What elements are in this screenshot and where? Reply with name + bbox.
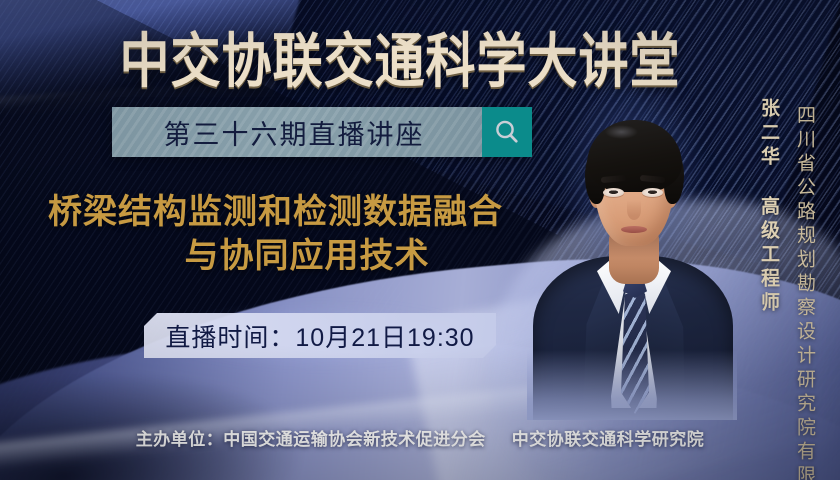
- search-icon-block[interactable]: [482, 107, 532, 157]
- lecture-title: 桥梁结构监测和检测数据融合 与协同应用技术: [48, 190, 548, 278]
- organizer-footer: 主办单位：中国交通运输协会新技术促进分会中交协联交通科学研究院: [0, 425, 840, 450]
- search-icon: [492, 117, 522, 147]
- speaker-name-vertical: 张二华 高级工程师: [755, 98, 782, 316]
- mouth: [621, 226, 647, 233]
- lecture-title-line-1: 桥梁结构监测和检测数据融合: [48, 190, 548, 234]
- speaker-organization-vertical: 四川省公路规划勘察设计研究院有限公司: [791, 105, 818, 480]
- page-title: 中交协联交通科学大讲堂: [0, 14, 840, 99]
- portrait-figure: [527, 60, 737, 420]
- session-banner: 第三十六期直播讲座: [112, 107, 532, 157]
- portrait-bottom-fade: [527, 350, 737, 420]
- lecture-title-line-2: 与协同应用技术: [48, 234, 548, 278]
- speaker-portrait: [527, 60, 737, 420]
- session-label: 第三十六期直播讲座: [112, 107, 482, 157]
- live-lecture-poster: 中交协联交通科学大讲堂 第三十六期直播讲座 桥梁结构监测和检测数据融合 与协同应…: [0, 0, 840, 480]
- eye-right: [642, 188, 663, 197]
- broadcast-time-badge: 直播时间：10月21日19:30: [144, 313, 496, 358]
- organizer-secondary: 中交协联交通科学研究院: [512, 430, 705, 449]
- nose: [627, 200, 641, 220]
- hair-sheen: [603, 124, 649, 140]
- eye-left: [603, 188, 624, 197]
- organizer-primary: 主办单位：中国交通运输协会新技术促进分会: [136, 430, 486, 449]
